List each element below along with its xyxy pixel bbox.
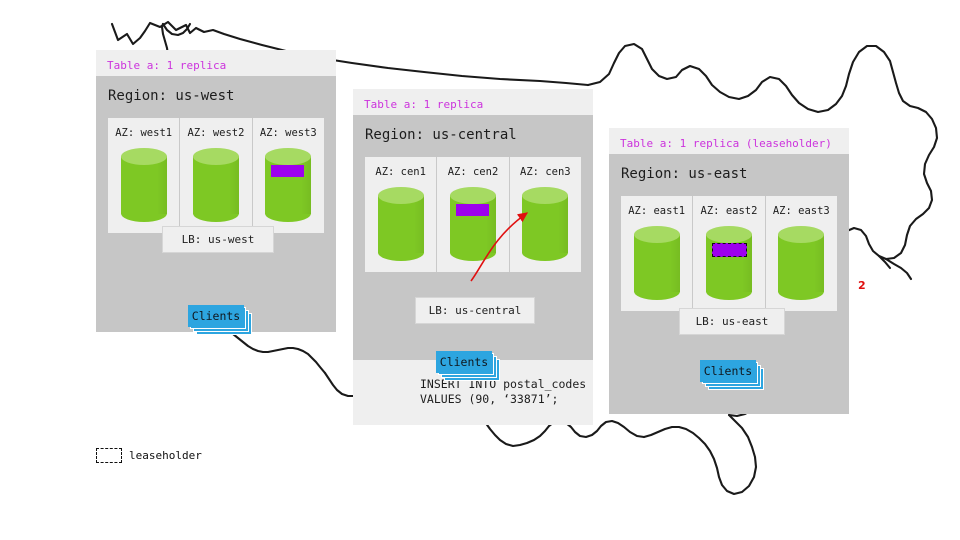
cylinder-shade	[414, 195, 424, 253]
az-strip-us-west: AZ: west1 AZ: west2	[108, 118, 324, 233]
cylinder-top	[778, 226, 824, 243]
az-label-cen1: AZ: cen1	[375, 166, 426, 178]
az-cell-east2[interactable]: AZ: east2	[692, 196, 764, 311]
cylinder-top	[121, 148, 167, 165]
cylinder-shade	[229, 156, 239, 214]
clients-button-us-central[interactable]: Clients	[436, 351, 492, 373]
region-panel-us-west: Table a: 1 replica Region: us-west AZ: w…	[96, 50, 336, 332]
az-cell-west3[interactable]: AZ: west3	[252, 118, 324, 233]
az-cell-cen3[interactable]: AZ: cen3	[509, 157, 581, 272]
replica-marker-west3[interactable]	[271, 165, 304, 177]
cylinder-top	[634, 226, 680, 243]
node-cylinder-west3[interactable]	[265, 148, 311, 222]
az-cell-west1[interactable]: AZ: west1	[108, 118, 179, 233]
cylinder-top	[522, 187, 568, 204]
region-title-us-central: Region: us-central	[353, 115, 593, 153]
load-balancer-us-west[interactable]: LB: us-west	[162, 226, 274, 253]
load-balancer-us-east[interactable]: LB: us-east	[679, 308, 785, 335]
az-label-east1: AZ: east1	[628, 205, 685, 217]
region-box-us-central: Region: us-central AZ: cen1 AZ: cen2	[353, 115, 593, 360]
cylinder-shade	[670, 234, 680, 292]
cylinder-shade	[558, 195, 568, 253]
diagram-canvas: Table a: 1 replica Region: us-west AZ: w…	[0, 0, 960, 540]
cylinder-top	[706, 226, 752, 243]
az-strip-us-east: AZ: east1 AZ: east2	[621, 196, 837, 311]
replica-marker-cen2[interactable]	[456, 204, 489, 216]
cylinder-top	[193, 148, 239, 165]
cylinder-top	[450, 187, 496, 204]
az-cell-east1[interactable]: AZ: east1	[621, 196, 692, 311]
az-cell-west2[interactable]: AZ: west2	[179, 118, 251, 233]
load-balancer-us-central[interactable]: LB: us-central	[415, 297, 535, 324]
arrow-label-2: 2	[858, 279, 866, 292]
cylinder-shade	[157, 156, 167, 214]
clients-stack-us-central[interactable]: Clients	[436, 351, 502, 383]
clients-button-us-east[interactable]: Clients	[700, 360, 756, 382]
legend: leaseholder	[96, 448, 202, 463]
node-cylinder-east3[interactable]	[778, 226, 824, 300]
cylinder-shade	[814, 234, 824, 292]
region-box-us-west: Region: us-west AZ: west1 AZ: west2	[96, 76, 336, 332]
node-cylinder-west2[interactable]	[193, 148, 239, 222]
node-cylinder-cen3[interactable]	[522, 187, 568, 261]
region-box-us-east: Region: us-east AZ: east1 AZ: east2	[609, 154, 849, 414]
az-label-cen3: AZ: cen3	[520, 166, 571, 178]
node-cylinder-cen1[interactable]	[378, 187, 424, 261]
region-title-us-west: Region: us-west	[96, 76, 336, 114]
leaseholder-dashed-icon	[96, 448, 122, 463]
az-cell-cen2[interactable]: AZ: cen2	[436, 157, 508, 272]
legend-label: leaseholder	[129, 449, 202, 462]
az-label-cen2: AZ: cen2	[448, 166, 499, 178]
region-panel-us-central: Table a: 1 replica Region: us-central AZ…	[353, 89, 593, 425]
cylinder-top	[265, 148, 311, 165]
replica-marker-east2-leaseholder[interactable]	[712, 243, 747, 257]
az-label-west1: AZ: west1	[115, 127, 172, 139]
clients-button-us-west[interactable]: Clients	[188, 305, 244, 327]
az-label-east2: AZ: east2	[701, 205, 758, 217]
az-cell-cen1[interactable]: AZ: cen1	[365, 157, 436, 272]
clients-stack-us-east[interactable]: Clients	[700, 360, 766, 392]
node-cylinder-east1[interactable]	[634, 226, 680, 300]
node-cylinder-east2[interactable]	[706, 226, 752, 300]
region-panel-us-east: Table a: 1 replica (leaseholder) Region:…	[609, 128, 849, 414]
az-label-east3: AZ: east3	[773, 205, 830, 217]
node-cylinder-cen2[interactable]	[450, 187, 496, 261]
region-title-us-east: Region: us-east	[609, 154, 849, 192]
az-label-west3: AZ: west3	[260, 127, 317, 139]
az-label-west2: AZ: west2	[188, 127, 245, 139]
cylinder-top	[378, 187, 424, 204]
clients-stack-us-west[interactable]: Clients	[188, 305, 254, 337]
az-cell-east3[interactable]: AZ: east3	[765, 196, 837, 311]
node-cylinder-west1[interactable]	[121, 148, 167, 222]
az-strip-us-central: AZ: cen1 AZ: cen2	[365, 157, 581, 272]
